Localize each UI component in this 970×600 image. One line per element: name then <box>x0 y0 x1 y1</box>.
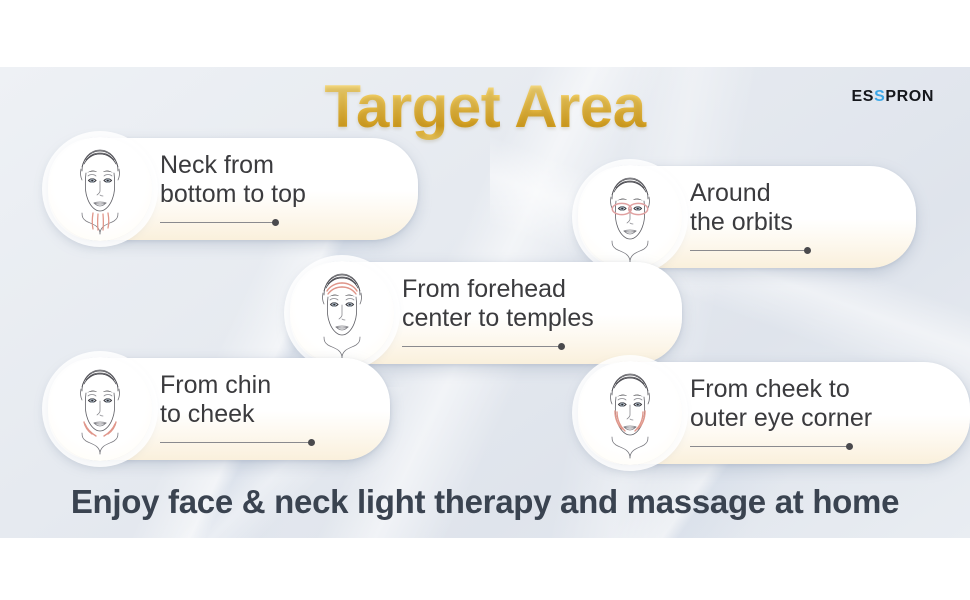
rule-dot <box>804 247 811 254</box>
card-rule <box>402 342 652 351</box>
rule-dot <box>308 439 315 446</box>
card-label: Around the orbits <box>690 179 886 237</box>
rule-line <box>160 222 276 223</box>
card-rule <box>160 218 388 227</box>
rule-dot <box>272 219 279 226</box>
card-label: From chin to cheek <box>160 371 360 429</box>
face-cheek-icon <box>578 361 682 465</box>
face-orbits-icon <box>578 165 682 269</box>
target-area-card-cheek[interactable]: From cheek to outer eye corner <box>578 362 970 464</box>
rule-dot <box>558 343 565 350</box>
face-forehead-icon <box>290 261 394 365</box>
card-rule <box>160 438 360 447</box>
face-chin-icon <box>48 357 152 461</box>
card-label: From forehead center to temples <box>402 275 652 333</box>
card-rule <box>690 246 886 255</box>
rule-line <box>690 250 808 251</box>
rule-line <box>690 446 850 447</box>
brand-logo-accent: S <box>874 88 885 105</box>
target-area-card-forehead[interactable]: From forehead center to temples <box>290 262 682 364</box>
rule-line <box>160 442 312 443</box>
card-label: From cheek to outer eye corner <box>690 375 940 433</box>
target-area-card-chin[interactable]: From chin to cheek <box>48 358 390 460</box>
rule-dot <box>846 443 853 450</box>
target-area-card-orbits[interactable]: Around the orbits <box>578 166 916 268</box>
tagline: Enjoy face & neck light therapy and mass… <box>0 483 970 521</box>
brand-logo: ESSPRON <box>852 88 934 106</box>
card-rule <box>690 442 940 451</box>
card-label: Neck from bottom to top <box>160 151 388 209</box>
promo-banner: Target Area ESSPRON Neck from bottom to … <box>0 0 970 600</box>
face-neck-icon <box>48 137 152 241</box>
brand-logo-part1: ES <box>852 88 875 105</box>
target-area-card-neck[interactable]: Neck from bottom to top <box>48 138 418 240</box>
rule-line <box>402 346 562 347</box>
page-title: Target Area <box>0 72 970 141</box>
brand-logo-part2: PRON <box>885 88 934 105</box>
